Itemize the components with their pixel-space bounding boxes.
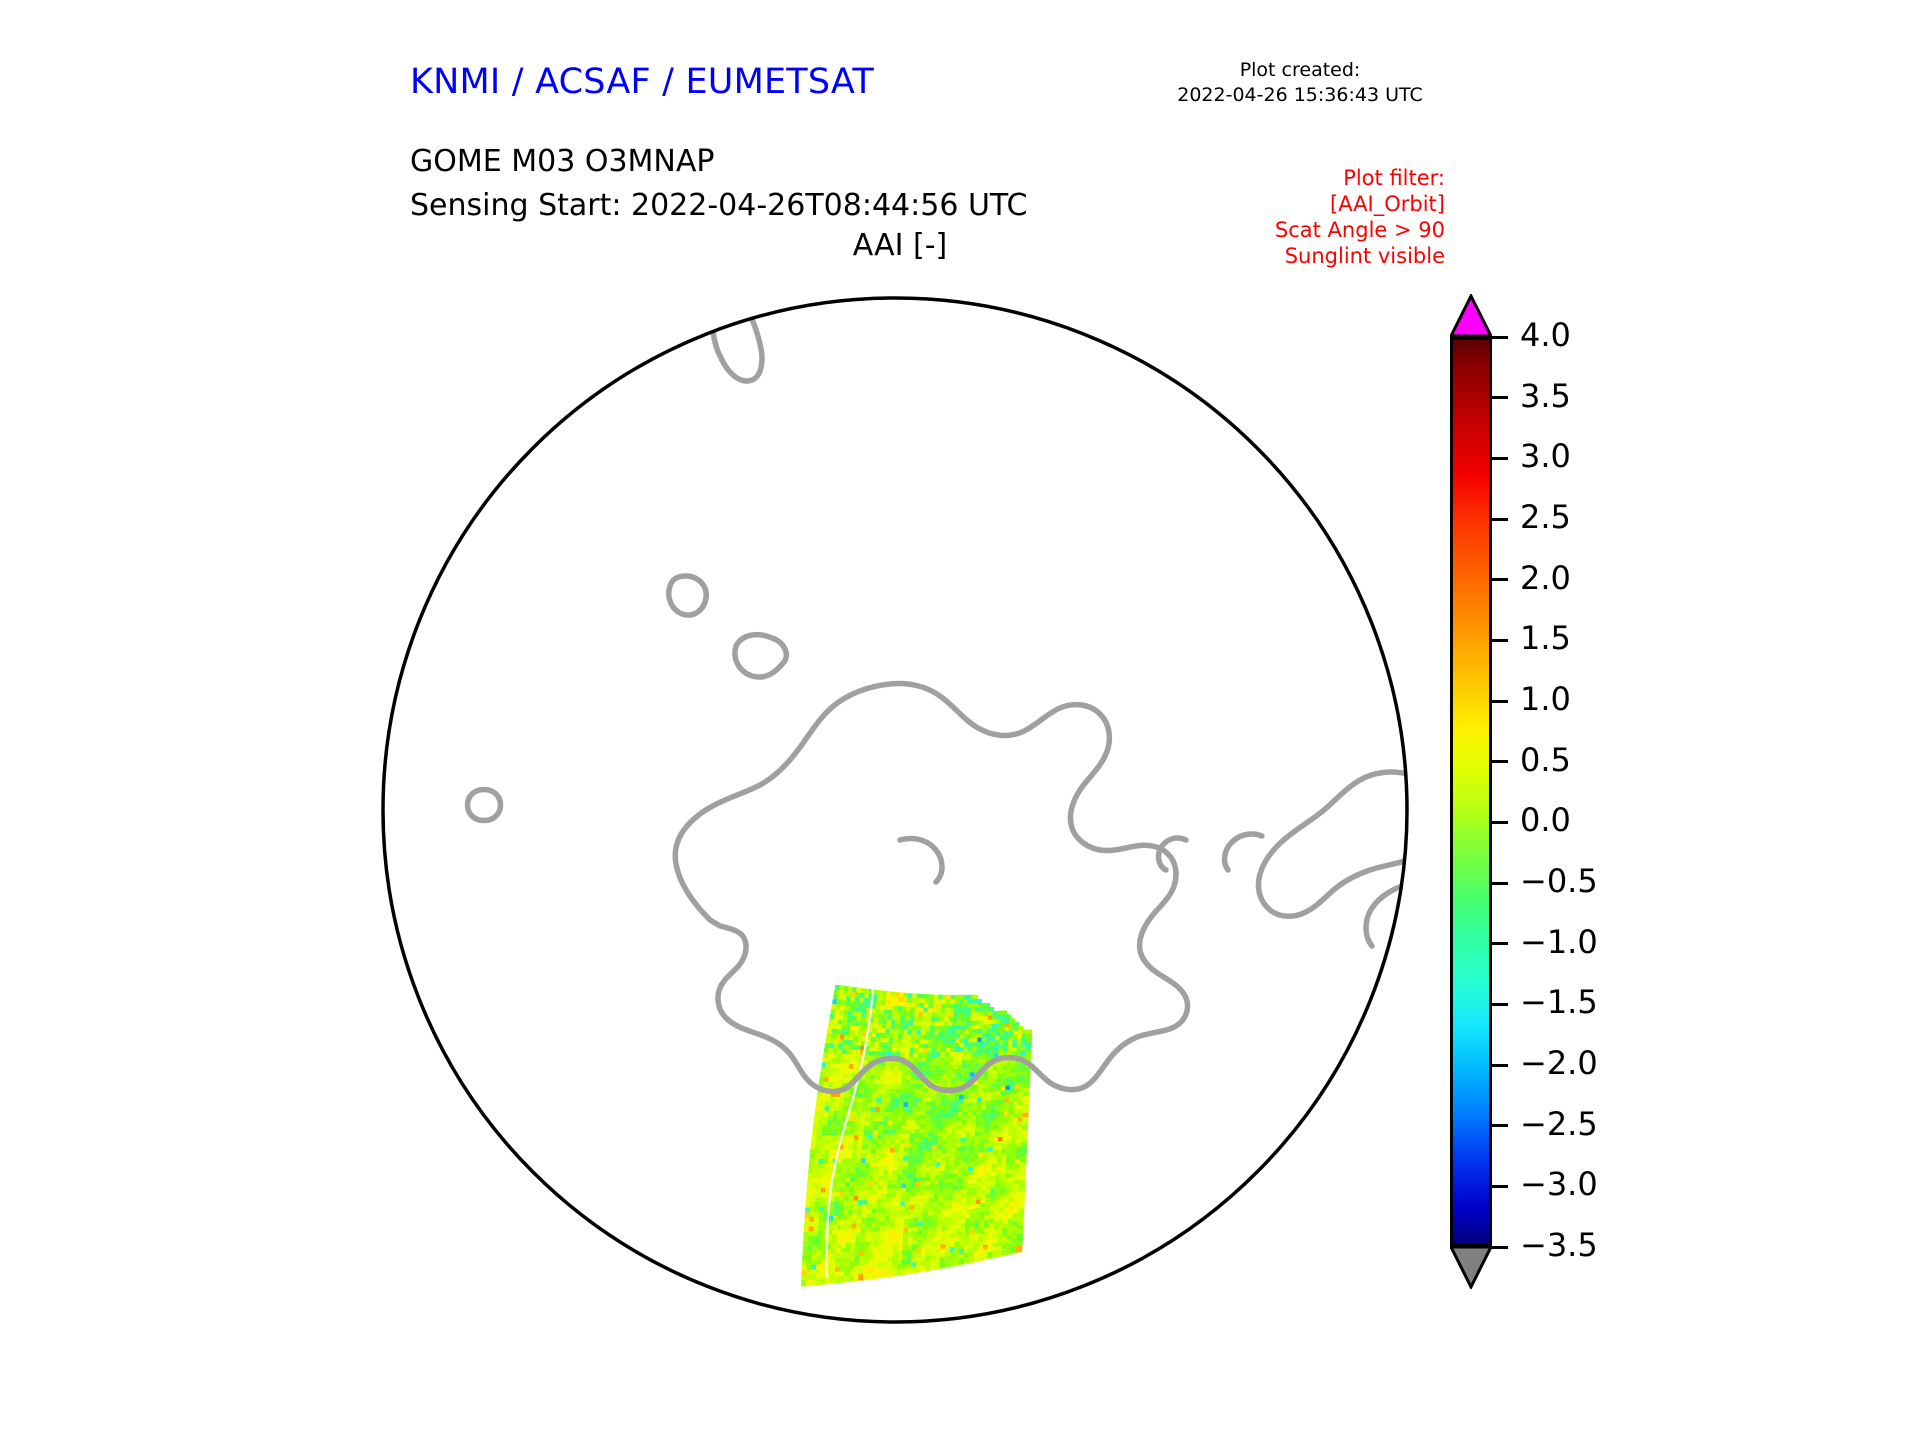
colorbar-tick-label: 3.5: [1520, 380, 1571, 412]
colorbar-tick-label: 3.0: [1520, 440, 1571, 472]
colorbar-tick-label: 0.5: [1520, 744, 1571, 776]
colorbar-over-arrow-icon: [1450, 294, 1492, 338]
plot-filter-block: Plot filter: [AAI_Orbit] Scat Angle > 90…: [1175, 165, 1445, 269]
sensing-start-label: Sensing Start: 2022-04-26T08:44:56 UTC: [410, 184, 1027, 228]
filter-line-2: [AAI_Orbit]: [1175, 191, 1445, 217]
colorbar-tick-label: −2.0: [1520, 1047, 1598, 1079]
swath-cell: [1016, 1246, 1022, 1252]
colorbar-gradient: [1453, 340, 1489, 1244]
colorbar-tick-label: −1.0: [1520, 926, 1598, 958]
colorbar-tick: [1492, 760, 1508, 763]
colorbar-tick: [1492, 882, 1508, 885]
plot-created-timestamp: 2022-04-26 15:36:43 UTC: [1155, 83, 1445, 108]
coastline-falklands: [1225, 834, 1262, 870]
colorbar-tick: [1492, 1064, 1508, 1067]
coastline-island-small: [669, 576, 707, 615]
filter-line-1: Plot filter:: [1175, 165, 1445, 191]
coastline-new-zealand: [713, 290, 762, 381]
colorbar-tick-label: −2.5: [1520, 1108, 1598, 1140]
axes-title: AAI [-]: [700, 228, 1100, 263]
polar-map: [380, 280, 1410, 1340]
plot-created-block: Plot created: 2022-04-26 15:36:43 UTC: [1155, 58, 1445, 108]
colorbar-under-arrow-icon: [1450, 1245, 1492, 1289]
colorbar-tick-label: 1.5: [1520, 622, 1571, 654]
colorbar-tick-label: −1.5: [1520, 986, 1598, 1018]
header-organizations: KNMI / ACSAF / EUMETSAT: [410, 62, 874, 102]
coastline-island-nz-south: [735, 635, 786, 677]
colorbar-tick: [1492, 1003, 1508, 1006]
coastlines: [468, 290, 1409, 1092]
instrument-label: GOME M03 O3MNAP: [410, 140, 1027, 184]
colorbar-tick: [1492, 396, 1508, 399]
coastline-detail-a: [900, 838, 942, 882]
colorbar-tick-label: 0.0: [1520, 804, 1571, 836]
colorbar-tick: [1492, 821, 1508, 824]
colorbar-tick-label: 4.0: [1520, 319, 1571, 351]
colorbar-tick-label: −3.5: [1520, 1229, 1598, 1261]
colorbar-tick-label: −3.0: [1520, 1168, 1598, 1200]
colorbar-gradient-body: [1450, 337, 1492, 1247]
colorbar-tick: [1492, 1185, 1508, 1188]
colorbar-tick: [1492, 518, 1508, 521]
colorbar-tick: [1492, 1124, 1508, 1127]
subtitle-block: GOME M03 O3MNAP Sensing Start: 2022-04-2…: [410, 140, 1027, 228]
plot-created-label: Plot created:: [1155, 58, 1445, 83]
data-swath: [801, 985, 1032, 1286]
colorbar-tick: [1492, 700, 1508, 703]
map-svg: [380, 280, 1410, 1340]
colorbar-tick-label: −0.5: [1520, 865, 1598, 897]
colorbar: 4.03.53.02.52.01.51.00.50.0−0.5−1.0−1.5−…: [1440, 282, 1860, 1302]
filter-line-3: Scat Angle > 90: [1175, 217, 1445, 243]
colorbar-tick: [1492, 639, 1508, 642]
colorbar-tick-label: 2.0: [1520, 562, 1571, 594]
colorbar-tick: [1492, 942, 1508, 945]
colorbar-tick: [1492, 457, 1508, 460]
colorbar-tick-label: 1.0: [1520, 683, 1571, 715]
coastline-island-left: [468, 790, 501, 821]
filter-line-4: Sunglint visible: [1175, 243, 1445, 269]
colorbar-tick-label: 2.5: [1520, 501, 1571, 533]
colorbar-tick: [1492, 1246, 1508, 1249]
colorbar-tick: [1492, 336, 1508, 339]
colorbar-tick: [1492, 578, 1508, 581]
